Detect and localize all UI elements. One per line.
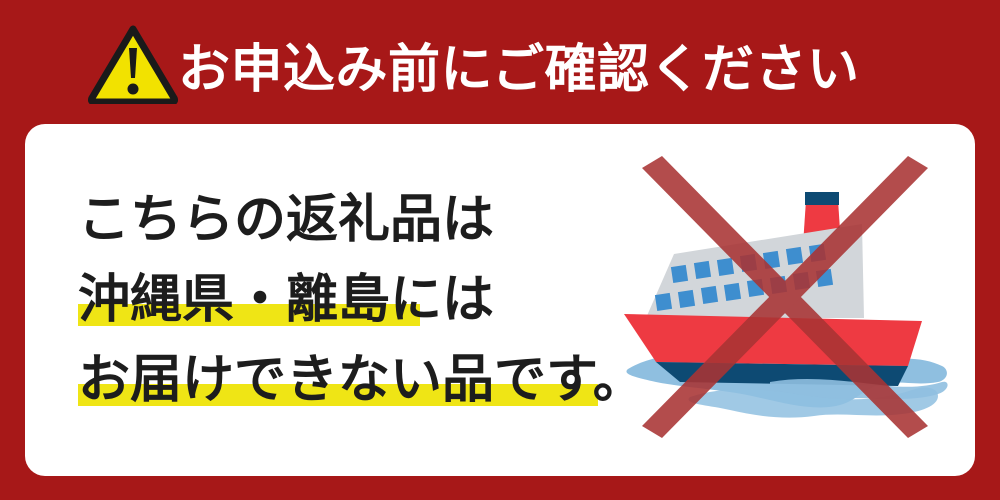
notice-text-block: こちらの返礼品は 沖縄県・離島には お届けできない品です。 xyxy=(78,174,638,414)
ship-not-allowed-illustration xyxy=(620,154,950,454)
notice-line-text: こちらの返礼品は xyxy=(78,177,494,252)
page-title: お申込み前にご確認ください xyxy=(178,24,859,104)
notice-card: こちらの返礼品は 沖縄県・離島には お届けできない品です。 xyxy=(25,124,975,476)
notice-line: こちらの返礼品は xyxy=(78,174,638,254)
notice-line-text: 沖縄県・離島には xyxy=(78,257,494,332)
announcement-banner: お申込み前にご確認ください こちらの返礼品は 沖縄県・離島には お届けできない品… xyxy=(0,0,1000,500)
notice-line-text: お届けできない品です。 xyxy=(78,337,645,412)
notice-line: お届けできない品です。 xyxy=(78,334,638,414)
notice-line: 沖縄県・離島には xyxy=(78,254,638,334)
warning-triangle-icon xyxy=(88,24,178,104)
banner-header: お申込み前にご確認ください xyxy=(0,0,1000,124)
